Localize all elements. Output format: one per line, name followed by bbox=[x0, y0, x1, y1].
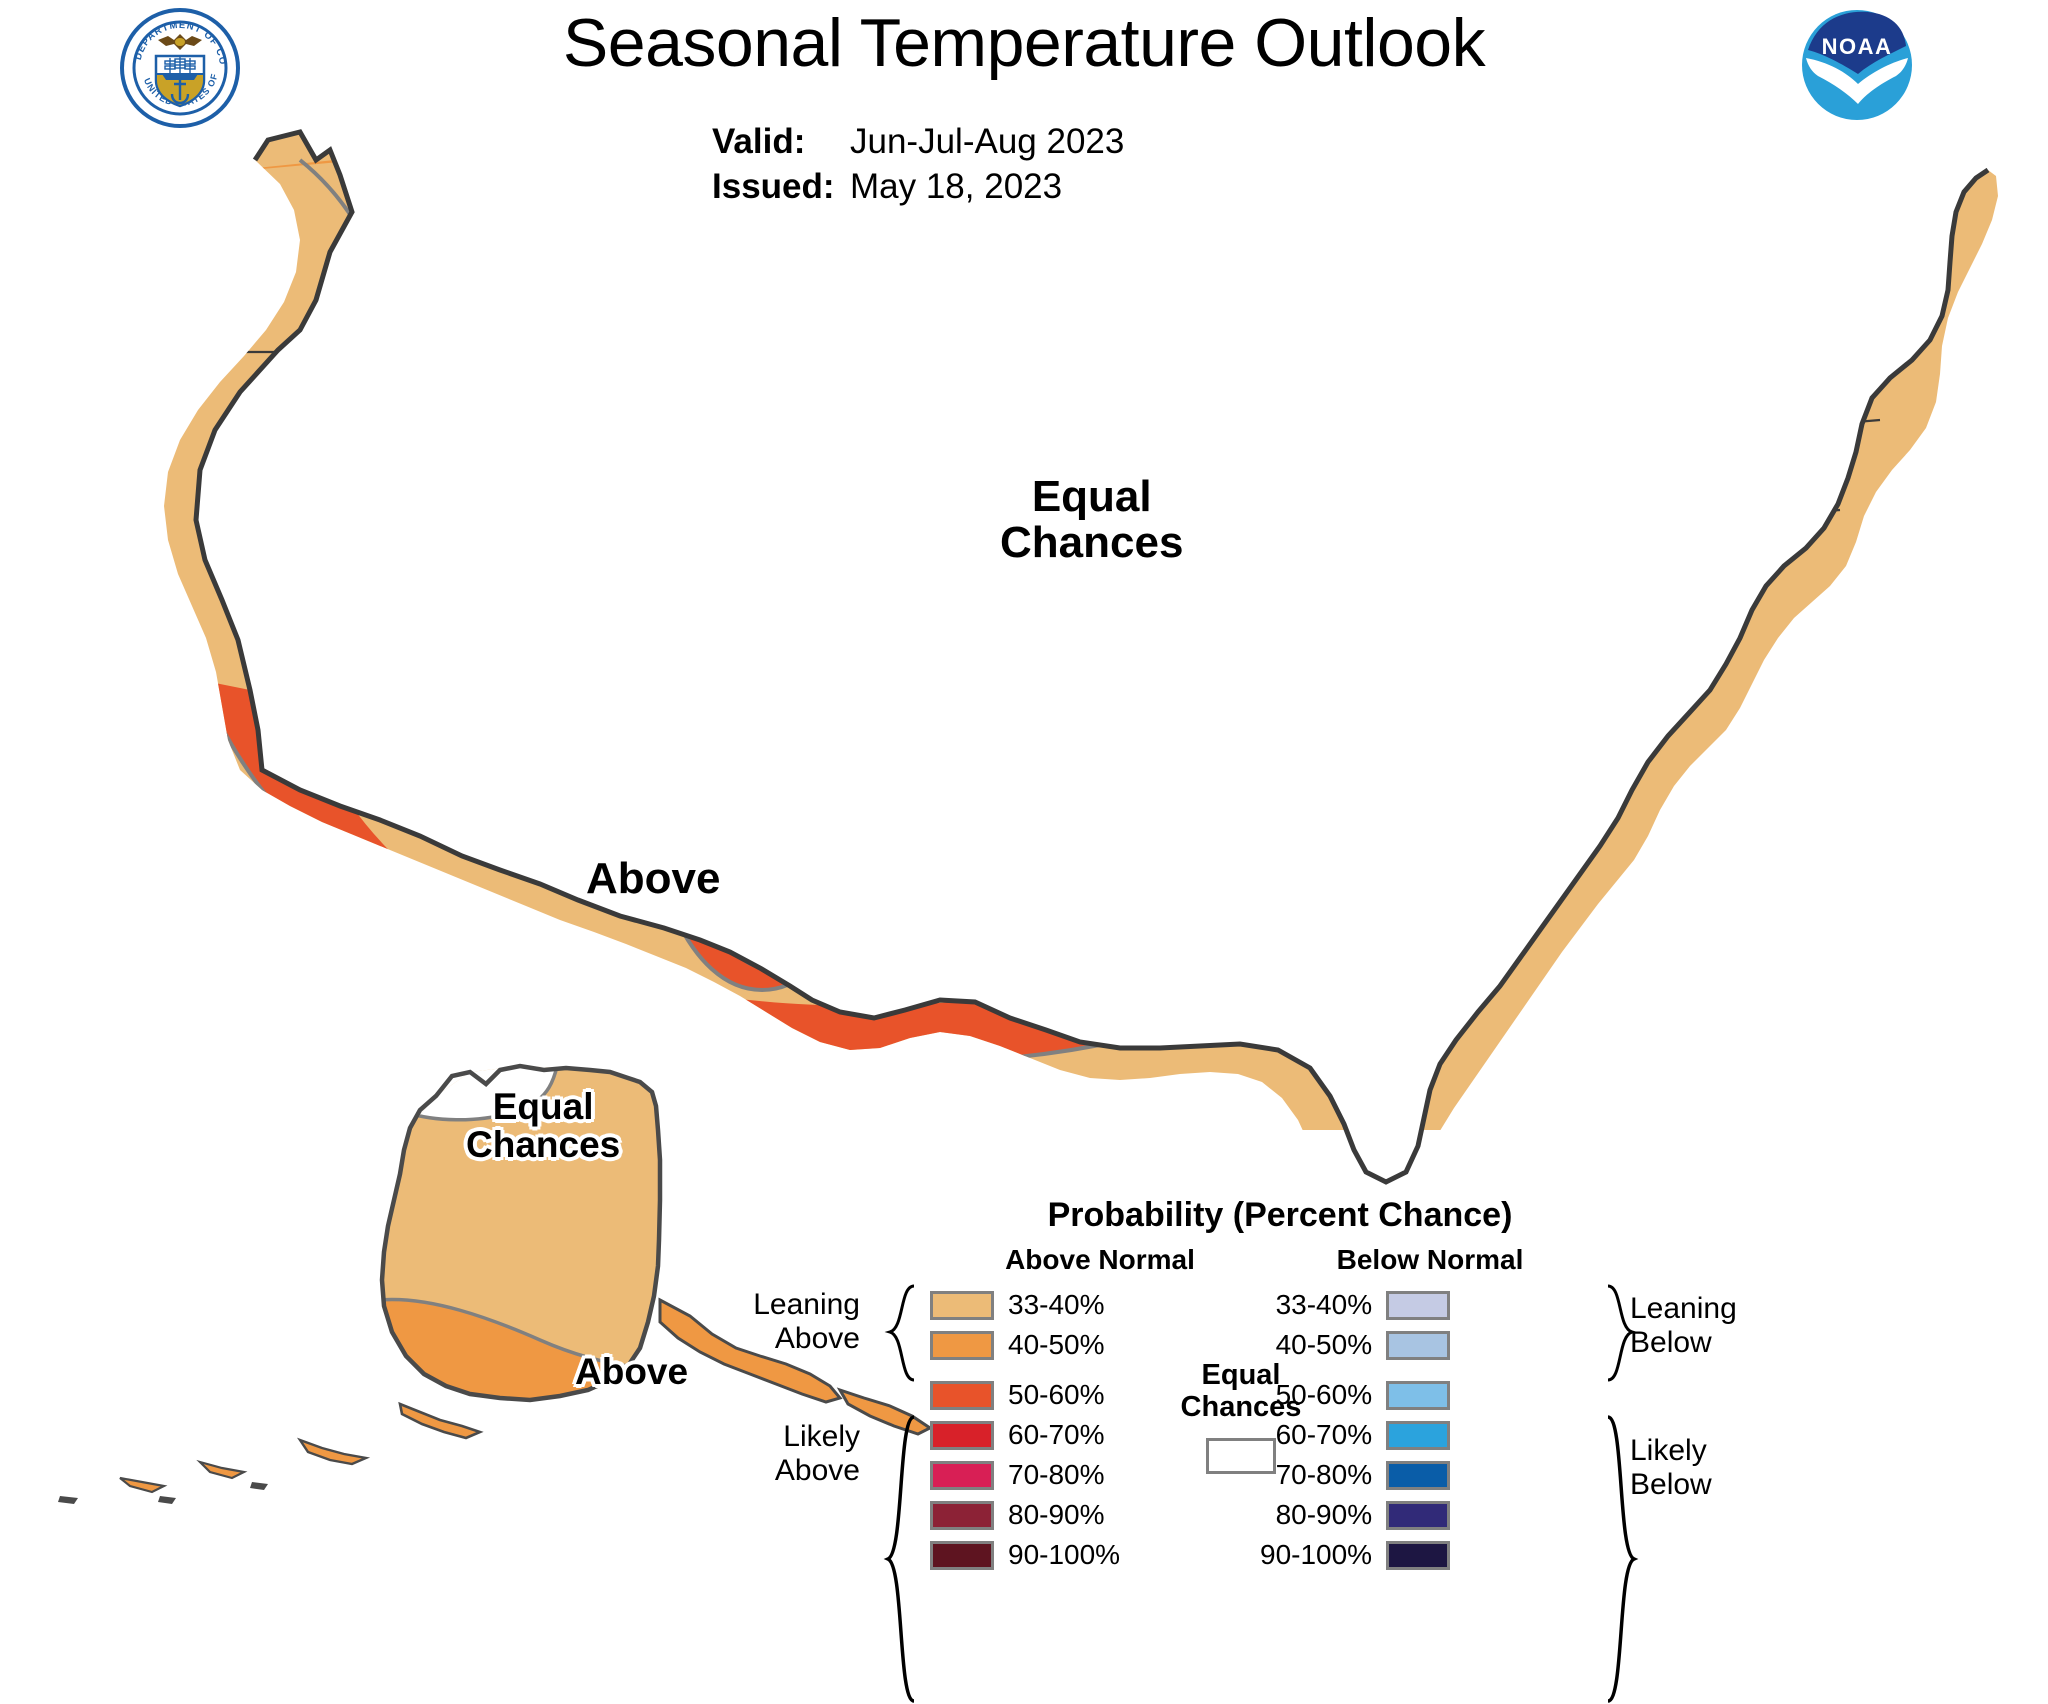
swatch-below-90-100 bbox=[1386, 1541, 1450, 1570]
map-label-equal-chances-conus: Equal Chances bbox=[1000, 474, 1183, 566]
department-of-commerce-seal: DEPARTMENT OF COMMERCE UNITED STATES OF … bbox=[118, 6, 242, 130]
band-equal-chances bbox=[140, 120, 2020, 1130]
noaa-logo: NOAA bbox=[1798, 6, 1916, 124]
noaa-logo-text: NOAA bbox=[1822, 34, 1893, 59]
swatch-above-60-70 bbox=[930, 1421, 994, 1450]
legend-row-below-50-60[interactable]: 50-60% bbox=[1276, 1378, 1451, 1412]
swatch-below-40-50 bbox=[1386, 1331, 1450, 1360]
conus-probability-bands bbox=[140, 120, 2020, 1130]
swatch-label-above-40-50: 40-50% bbox=[1008, 1329, 1105, 1361]
legend-row-above-40-50[interactable]: 40-50% bbox=[930, 1328, 1120, 1362]
page-title: Seasonal Temperature Outlook bbox=[0, 8, 2048, 79]
swatch-below-33-40 bbox=[1386, 1291, 1450, 1320]
legend-row-below-60-70[interactable]: 60-70% bbox=[1276, 1418, 1451, 1452]
legend-row-above-70-80[interactable]: 70-80% bbox=[930, 1458, 1120, 1492]
swatch-label-above-50-60: 50-60% bbox=[1008, 1379, 1105, 1411]
swatch-label-above-60-70: 60-70% bbox=[1008, 1419, 1105, 1451]
legend-column-above-normal: 33-40% 40-50% 50-60% 60-70% 70-80% 80-90… bbox=[930, 1288, 1120, 1578]
swatch-label-below-33-40: 33-40% bbox=[1276, 1289, 1373, 1321]
valid-row: Valid:Jun-Jul-Aug 2023 bbox=[712, 120, 1124, 165]
conus-outline bbox=[196, 132, 1988, 1182]
brace-likely-above-icon bbox=[864, 1414, 920, 1704]
swatch-below-80-90 bbox=[1386, 1501, 1450, 1530]
valid-issued-block: Valid:Jun-Jul-Aug 2023 Issued:May 18, 20… bbox=[712, 120, 1124, 210]
legend-row-below-70-80[interactable]: 70-80% bbox=[1276, 1458, 1451, 1492]
leaning-above-line1: Leaning bbox=[710, 1288, 860, 1322]
likely-above-line2: Above bbox=[710, 1454, 860, 1488]
swatch-above-33-40 bbox=[930, 1291, 994, 1320]
swatch-above-90-100 bbox=[930, 1541, 994, 1570]
map-label-above-conus: Above bbox=[586, 856, 720, 902]
legend-row-below-90-100[interactable]: 90-100% bbox=[1260, 1538, 1450, 1572]
issued-row: Issued:May 18, 2023 bbox=[712, 165, 1124, 210]
map-label-above-alaska: Above bbox=[575, 1353, 688, 1391]
swatch-below-60-70 bbox=[1386, 1421, 1450, 1450]
legend-row-below-40-50[interactable]: 40-50% bbox=[1276, 1328, 1451, 1362]
legend-bracket-likely-above: Likely Above bbox=[710, 1420, 860, 1487]
swatch-label-below-40-50: 40-50% bbox=[1276, 1329, 1373, 1361]
band-above-60-70-core bbox=[686, 566, 850, 968]
swatch-label-above-90-100: 90-100% bbox=[1008, 1539, 1120, 1571]
legend-column-below-normal: 33-40% 40-50% 50-60% 60-70% 70-80% 80-90… bbox=[1260, 1288, 1450, 1578]
swatch-above-40-50 bbox=[930, 1331, 994, 1360]
swatch-below-50-60 bbox=[1386, 1381, 1450, 1410]
legend-row-below-33-40[interactable]: 33-40% bbox=[1276, 1288, 1451, 1322]
legend-row-above-90-100[interactable]: 90-100% bbox=[930, 1538, 1120, 1572]
swatch-label-below-80-90: 80-90% bbox=[1276, 1499, 1373, 1531]
swatch-above-70-80 bbox=[930, 1461, 994, 1490]
brace-leaning-below-icon bbox=[1602, 1284, 1658, 1384]
legend: Probability (Percent Chance) Above Norma… bbox=[930, 1196, 1740, 1576]
swatch-label-below-90-100: 90-100% bbox=[1260, 1539, 1372, 1571]
swatch-label-below-70-80: 70-80% bbox=[1276, 1459, 1373, 1491]
band-above-50-60-southwest bbox=[640, 500, 884, 990]
legend-row-below-80-90[interactable]: 80-90% bbox=[1276, 1498, 1451, 1532]
legend-heading-above-normal: Above Normal bbox=[930, 1244, 1270, 1276]
leaning-above-line2: Above bbox=[710, 1322, 860, 1356]
legend-heading-below-normal: Below Normal bbox=[1260, 1244, 1600, 1276]
conus-contour-lines bbox=[200, 120, 1952, 1062]
issued-value: May 18, 2023 bbox=[850, 167, 1062, 206]
swatch-label-above-33-40: 33-40% bbox=[1008, 1289, 1105, 1321]
brace-leaning-above-icon bbox=[864, 1284, 920, 1384]
swatch-below-70-80 bbox=[1386, 1461, 1450, 1490]
swatch-label-below-50-60: 50-60% bbox=[1276, 1379, 1373, 1411]
swatch-above-80-90 bbox=[930, 1501, 994, 1530]
swatch-label-above-80-90: 80-90% bbox=[1008, 1499, 1105, 1531]
swatch-label-above-70-80: 70-80% bbox=[1008, 1459, 1105, 1491]
legend-row-above-60-70[interactable]: 60-70% bbox=[930, 1418, 1120, 1452]
legend-bracket-leaning-above: Leaning Above bbox=[710, 1288, 860, 1355]
valid-value: Jun-Jul-Aug 2023 bbox=[850, 122, 1124, 161]
band-above-50-60 bbox=[200, 210, 1890, 1062]
issued-key: Issued: bbox=[712, 165, 850, 210]
swatch-above-50-60 bbox=[930, 1381, 994, 1410]
band-above-33-40 bbox=[140, 120, 2020, 1130]
legend-row-above-33-40[interactable]: 33-40% bbox=[930, 1288, 1120, 1322]
brace-likely-below-icon bbox=[1602, 1414, 1658, 1704]
legend-row-above-50-60[interactable]: 50-60% bbox=[930, 1378, 1120, 1412]
valid-key: Valid: bbox=[712, 120, 850, 165]
map-label-equal-chances-alaska: Equal Chances bbox=[466, 1088, 620, 1165]
likely-above-line1: Likely bbox=[710, 1420, 860, 1454]
swatch-label-below-60-70: 60-70% bbox=[1276, 1419, 1373, 1451]
legend-title: Probability (Percent Chance) bbox=[930, 1196, 1630, 1235]
legend-row-above-80-90[interactable]: 80-90% bbox=[930, 1498, 1120, 1532]
